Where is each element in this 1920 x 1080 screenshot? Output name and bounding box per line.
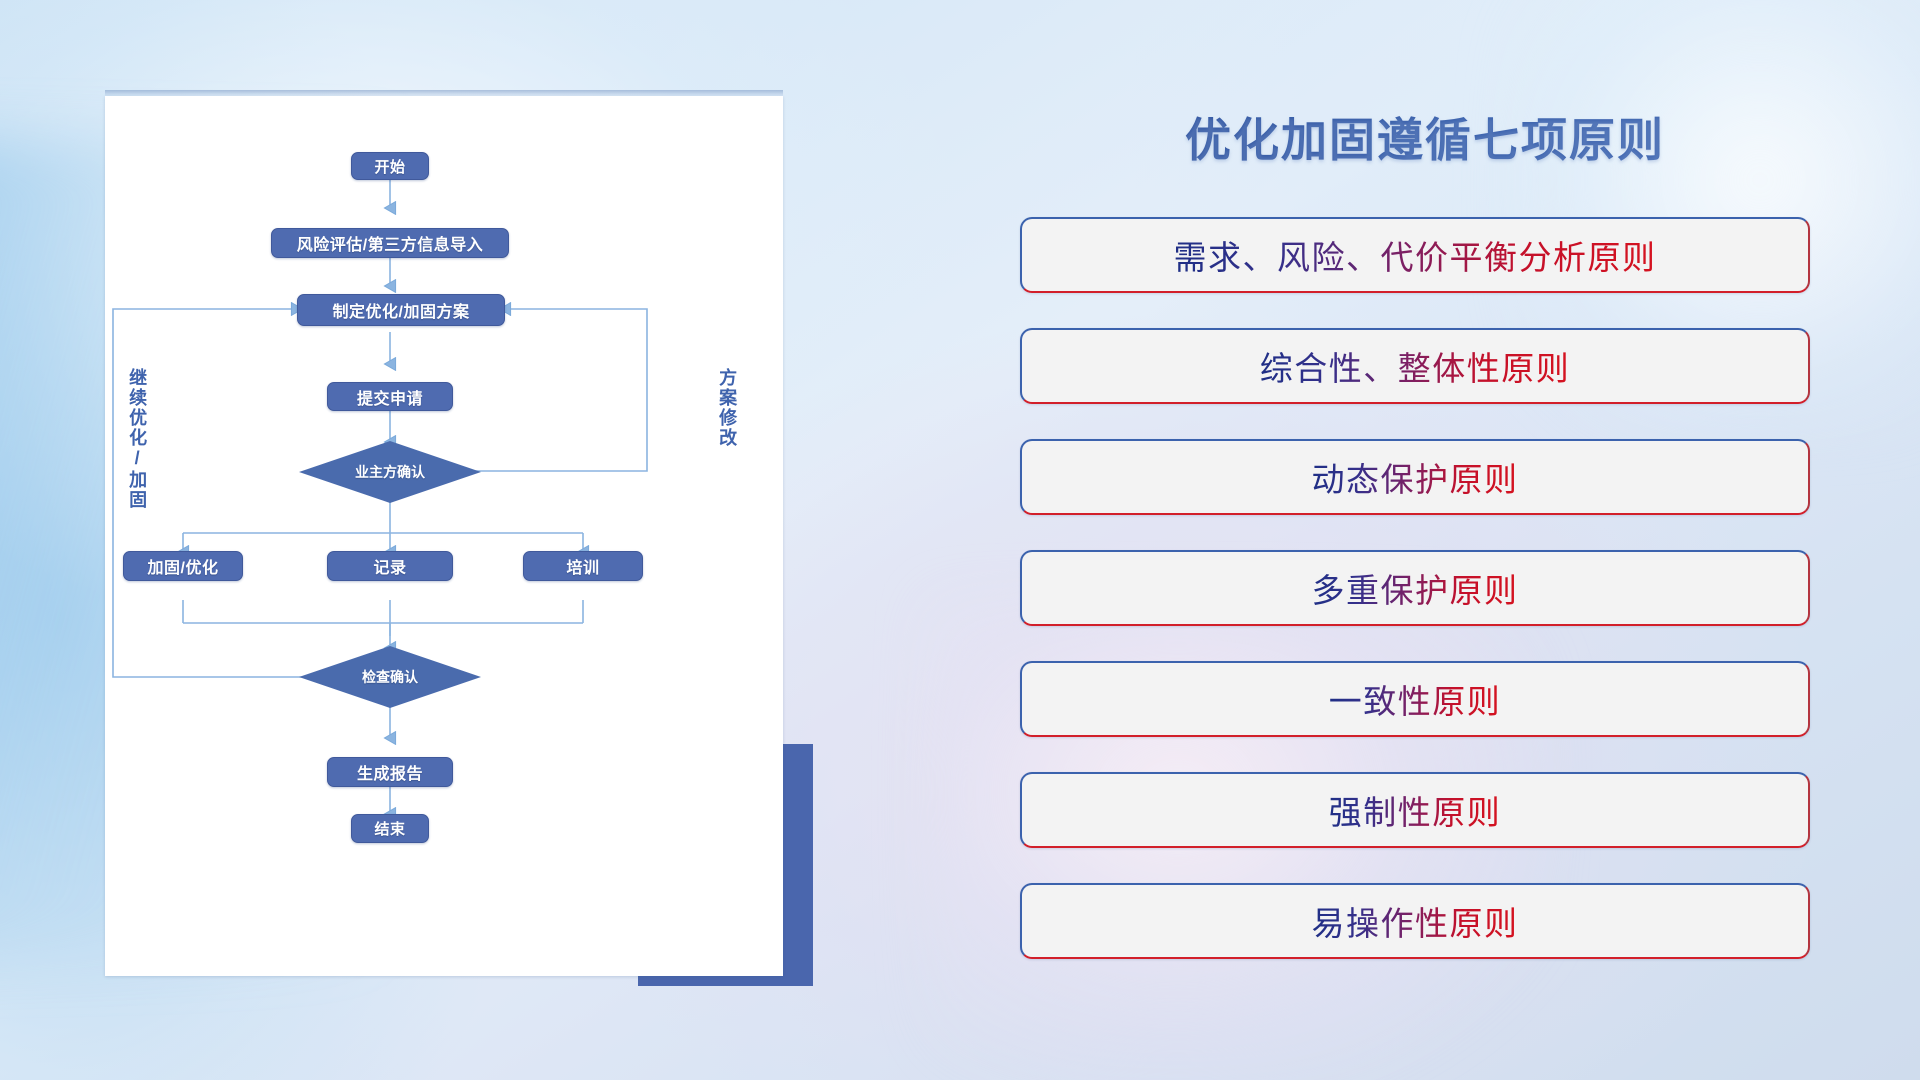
principle-card[interactable]: 易操作性原则 <box>1020 883 1810 959</box>
principle-card[interactable]: 多重保护原则 <box>1020 550 1810 626</box>
flow-node-start-label: 开始 <box>374 156 405 177</box>
principle-card[interactable]: 综合性、整体性原则 <box>1020 328 1810 404</box>
flow-node-record-label: 记录 <box>373 554 406 578</box>
principle-card[interactable]: 需求、风险、代价平衡分析原则 <box>1020 217 1810 293</box>
principle-label: 多重保护原则 <box>1312 564 1519 612</box>
slide-root: 开始 风险评估/第三方信息导入 制定优化/加固方案 提交申请 业主方确认 加固/… <box>0 0 1920 1080</box>
flow-node-submit[interactable]: 提交申请 <box>327 382 453 411</box>
principles-panel: 优化加固遵循七项原则 需求、风险、代价平衡分析原则 综合性、整体性原则 动态保护… <box>1020 96 1830 996</box>
principle-card[interactable]: 一致性原则 <box>1020 661 1810 737</box>
flowchart-card: 开始 风险评估/第三方信息导入 制定优化/加固方案 提交申请 业主方确认 加固/… <box>105 96 783 976</box>
flow-node-plan-label: 制定优化/加固方案 <box>333 298 470 322</box>
flowchart: 开始 风险评估/第三方信息导入 制定优化/加固方案 提交申请 业主方确认 加固/… <box>105 96 783 976</box>
flow-node-training-label: 培训 <box>566 554 599 578</box>
principle-label: 易操作性原则 <box>1312 897 1519 945</box>
flow-node-owner-confirm[interactable]: 业主方确认 <box>299 441 481 503</box>
flow-node-reinforce[interactable]: 加固/优化 <box>123 551 243 581</box>
flow-node-check-confirm[interactable]: 检查确认 <box>299 646 481 708</box>
flow-node-submit-label: 提交申请 <box>357 385 423 409</box>
flow-node-generate-report-label: 生成报告 <box>357 760 423 784</box>
flow-node-risk-assessment[interactable]: 风险评估/第三方信息导入 <box>271 228 509 258</box>
principle-label: 强制性原则 <box>1329 786 1502 834</box>
flow-label-left-loop: 继续优化/加固 <box>127 368 146 510</box>
principle-label: 一致性原则 <box>1329 675 1502 723</box>
flow-node-risk-assessment-label: 风险评估/第三方信息导入 <box>297 231 483 255</box>
principle-card[interactable]: 强制性原则 <box>1020 772 1810 848</box>
flow-node-check-confirm-label: 检查确认 <box>362 667 418 687</box>
principle-card[interactable]: 动态保护原则 <box>1020 439 1810 515</box>
principle-label: 需求、风险、代价平衡分析原则 <box>1174 231 1657 279</box>
flow-node-reinforce-label: 加固/优化 <box>148 554 219 578</box>
flow-node-end[interactable]: 结束 <box>351 814 429 843</box>
page-title: 优化加固遵循七项原则 <box>1020 104 1830 170</box>
flow-label-right-loop: 方案修改 <box>717 368 736 448</box>
flow-node-start[interactable]: 开始 <box>351 152 429 180</box>
flow-node-end-label: 结束 <box>374 818 405 839</box>
flow-node-generate-report[interactable]: 生成报告 <box>327 757 453 787</box>
flow-node-training[interactable]: 培训 <box>523 551 643 581</box>
principle-label: 综合性、整体性原则 <box>1260 342 1571 390</box>
flow-node-record[interactable]: 记录 <box>327 551 453 581</box>
flow-node-owner-confirm-label: 业主方确认 <box>355 462 425 482</box>
principle-label: 动态保护原则 <box>1312 453 1519 501</box>
principles-list: 需求、风险、代价平衡分析原则 综合性、整体性原则 动态保护原则 多重保护原则 一… <box>1020 217 1830 959</box>
flow-node-plan[interactable]: 制定优化/加固方案 <box>297 294 505 326</box>
